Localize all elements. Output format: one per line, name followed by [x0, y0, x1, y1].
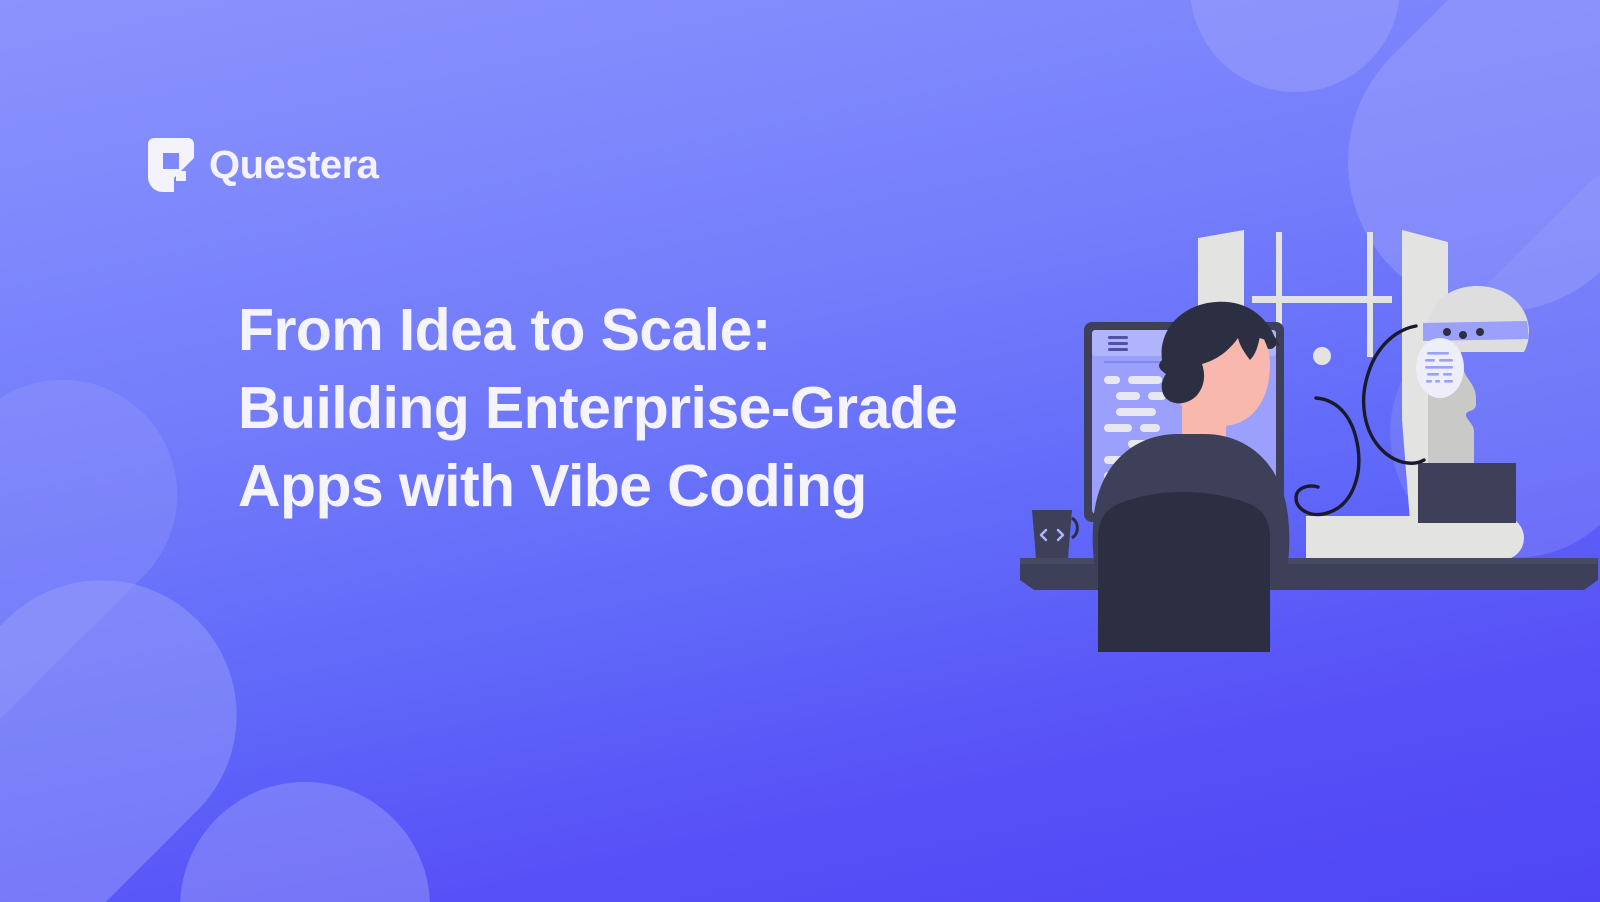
banner-root: Questera From Idea to Scale: Building En… [0, 0, 1600, 902]
chair-back [1098, 492, 1270, 652]
brand-logo[interactable]: Questera [148, 138, 378, 192]
robot-headband [1423, 321, 1529, 341]
page-title-line-1: From Idea to Scale: [238, 291, 998, 369]
page-title-line-3: Apps with Vibe Coding [238, 447, 998, 525]
robot-face-panel [1416, 338, 1464, 398]
decorative-blob-bottom-left-1 [0, 524, 293, 902]
hero-illustration [1020, 222, 1600, 652]
coffee-mug [1032, 510, 1080, 558]
hero-illustration-svg [1020, 222, 1600, 652]
decorative-blob-top-right-3 [1190, 0, 1400, 92]
page-title: From Idea to Scale: Building Enterprise-… [238, 291, 998, 525]
hamburger-menu-icon [1108, 336, 1128, 351]
decorative-blob-bottom-left-3 [180, 782, 430, 902]
decorative-blob-bottom-left-2 [0, 332, 225, 792]
brand-wordmark: Questera [209, 145, 378, 185]
ai-robot-head [1416, 286, 1529, 523]
robot-pedestal [1418, 463, 1516, 523]
page-title-line-2: Building Enterprise-Grade [238, 369, 998, 447]
questera-shield-mark-icon [148, 138, 194, 192]
